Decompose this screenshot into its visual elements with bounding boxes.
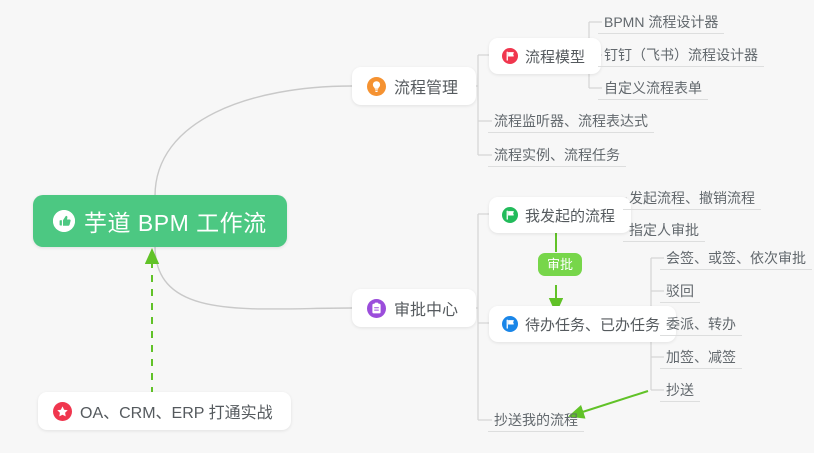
branch-node-approval-center[interactable]: 审批中心	[352, 289, 476, 327]
leaf-label: 钉钉（飞书）流程设计器	[604, 48, 758, 62]
leaf-node[interactable]: 发起流程、撤销流程	[623, 186, 761, 210]
node-label: 流程模型	[525, 46, 585, 67]
node-todo-done-tasks[interactable]: 待办任务、已办任务	[489, 306, 676, 342]
node-label: 我发起的流程	[525, 205, 615, 226]
annotation-label: 审批	[547, 257, 573, 272]
leaf-node[interactable]: 会签、或签、依次审批	[660, 246, 812, 270]
footnote-label: OA、CRM、ERP 打通实战	[80, 399, 273, 423]
leaf-node[interactable]: 流程实例、流程任务	[488, 143, 626, 167]
leaf-node[interactable]: 委派、转办	[660, 312, 742, 336]
clipboard-icon	[367, 299, 386, 318]
leaf-node[interactable]: 自定义流程表单	[598, 76, 708, 100]
branch-label: 审批中心	[394, 296, 458, 320]
leaf-label: 驳回	[666, 284, 694, 298]
footnote-node[interactable]: OA、CRM、ERP 打通实战	[38, 392, 291, 430]
leaf-node[interactable]: 指定人审批	[623, 218, 705, 242]
leaf-label: 指定人审批	[629, 223, 699, 237]
leaf-label: 会签、或签、依次审批	[666, 251, 806, 265]
thumbs-up-icon	[53, 210, 75, 232]
leaf-node[interactable]: 驳回	[660, 279, 700, 303]
root-label: 芋道 BPM 工作流	[84, 204, 267, 238]
leaf-node[interactable]: 加签、减签	[660, 345, 742, 369]
relation-label-approval[interactable]: 审批	[538, 253, 582, 276]
node-process-model[interactable]: 流程模型	[489, 38, 601, 74]
leaf-node[interactable]: BPMN 流程设计器	[598, 10, 724, 34]
flag-icon	[502, 48, 518, 64]
leaf-label: BPMN 流程设计器	[604, 15, 718, 29]
leaf-label: 发起流程、撤销流程	[629, 191, 755, 205]
leaf-node[interactable]: 抄送	[660, 378, 700, 402]
branch-node-process-management[interactable]: 流程管理	[352, 67, 476, 105]
lightbulb-icon	[367, 77, 386, 96]
node-my-initiated-processes[interactable]: 我发起的流程	[489, 197, 631, 233]
leaf-node[interactable]: 抄送我的流程	[488, 408, 584, 432]
flag-icon	[502, 316, 518, 332]
leaf-label: 抄送我的流程	[494, 413, 578, 427]
root-node[interactable]: 芋道 BPM 工作流	[33, 195, 287, 247]
mindmap-canvas: 芋道 BPM 工作流 流程管理 流程模型 BPMN 流程设计器 钉钉（飞书）流程…	[0, 0, 814, 453]
leaf-label: 流程监听器、流程表达式	[494, 114, 648, 128]
branch-label: 流程管理	[394, 74, 458, 98]
leaf-label: 加签、减签	[666, 350, 736, 364]
leaf-label: 抄送	[666, 383, 694, 397]
leaf-label: 委派、转办	[666, 317, 736, 331]
leaf-label: 自定义流程表单	[604, 81, 702, 95]
node-label: 待办任务、已办任务	[525, 314, 660, 335]
star-icon	[53, 402, 72, 421]
leaf-node[interactable]: 流程监听器、流程表达式	[488, 109, 654, 133]
flag-icon	[502, 207, 518, 223]
leaf-node[interactable]: 钉钉（飞书）流程设计器	[598, 43, 764, 67]
leaf-label: 流程实例、流程任务	[494, 148, 620, 162]
